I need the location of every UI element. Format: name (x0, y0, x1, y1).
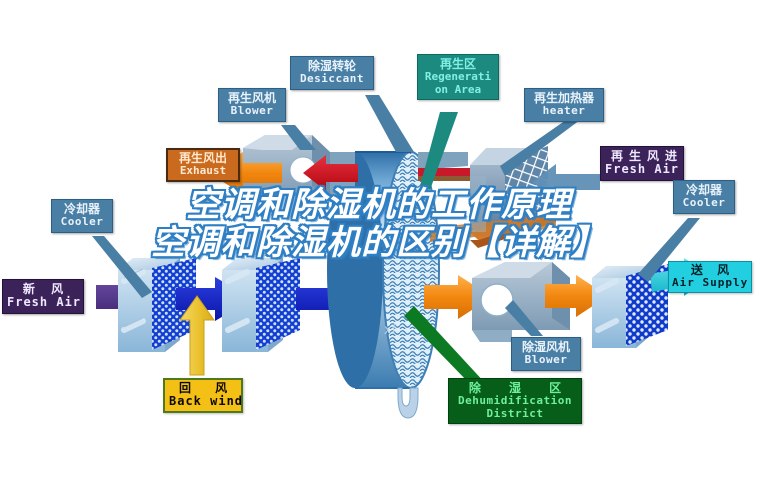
label-dehumidification-district-cn: 除 湿 区 (453, 382, 577, 395)
label-desiccant-wheel-en: Desiccant (295, 73, 369, 85)
label-dehumidify-blower-en: Blower (516, 354, 576, 366)
label-air-supply[interactable]: 送 风 Air Supply (668, 261, 752, 293)
label-fresh-air-intake-cn: 新 风 (7, 283, 79, 296)
label-regeneration-fresh-air-cn: 再生风进 (605, 150, 679, 163)
label-regeneration-blower[interactable]: 再生风机 Blower (218, 88, 286, 122)
label-fresh-air-intake-en: Fresh Air (7, 296, 79, 309)
label-regeneration-blower-en: Blower (223, 105, 281, 117)
label-regeneration-blower-cn: 再生风机 (223, 92, 281, 105)
label-desiccant-wheel[interactable]: 除湿转轮 Desiccant (290, 56, 374, 90)
label-back-wind-cn: 回 风 (169, 382, 237, 395)
label-cooler-right-cn: 冷却器 (678, 184, 730, 197)
label-cooler-right[interactable]: 冷却器 Cooler (673, 180, 735, 214)
label-dehumidify-blower-cn: 除湿风机 (516, 341, 576, 354)
label-dehumidification-district-en2: District (453, 408, 577, 420)
label-cooler-left-en: Cooler (56, 216, 108, 228)
label-regeneration-area[interactable]: 再生区 Regenerati on Area (417, 54, 499, 100)
label-cooler-left[interactable]: 冷却器 Cooler (51, 199, 113, 233)
label-dehumidification-district-en: Dehumidification (453, 395, 577, 407)
label-air-supply-cn: 送 风 (672, 264, 748, 277)
cooler-coil-2 (222, 258, 300, 352)
label-regeneration-exhaust[interactable]: 再生风出 Exhaust (166, 148, 240, 182)
svg-text:xf: xf (384, 323, 397, 338)
label-air-supply-en: Air Supply (672, 277, 748, 289)
label-regeneration-heater-en: heater (529, 105, 599, 117)
label-back-wind-en: Back wind (169, 395, 237, 408)
label-regeneration-area-en2: on Area (421, 84, 495, 96)
label-regeneration-heater[interactable]: 再生加热器 heater (524, 88, 604, 122)
label-regeneration-exhaust-cn: 再生风出 (171, 152, 235, 165)
label-cooler-right-en: Cooler (678, 197, 730, 209)
label-regeneration-heater-cn: 再生加热器 (529, 92, 599, 105)
label-fresh-air-intake[interactable]: 新 风 Fresh Air (2, 279, 84, 314)
label-back-wind[interactable]: 回 风 Back wind (163, 378, 243, 413)
label-desiccant-wheel-cn: 除湿转轮 (295, 60, 369, 73)
label-regeneration-area-en: Regenerati (421, 71, 495, 83)
label-dehumidification-district[interactable]: 除 湿 区 Dehumidification District (448, 378, 582, 424)
label-regeneration-area-cn: 再生区 (421, 58, 495, 71)
label-regeneration-fresh-air[interactable]: 再生风进 Fresh Air (600, 146, 684, 181)
label-regeneration-fresh-air-en: Fresh Air (605, 163, 679, 176)
diagram-canvas: xf (0, 0, 757, 488)
label-regeneration-exhaust-en: Exhaust (171, 165, 235, 177)
label-dehumidify-blower[interactable]: 除湿风机 Blower (511, 337, 581, 371)
label-cooler-left-cn: 冷却器 (56, 203, 108, 216)
dehumidifier-schematic-art: xf (0, 0, 757, 488)
